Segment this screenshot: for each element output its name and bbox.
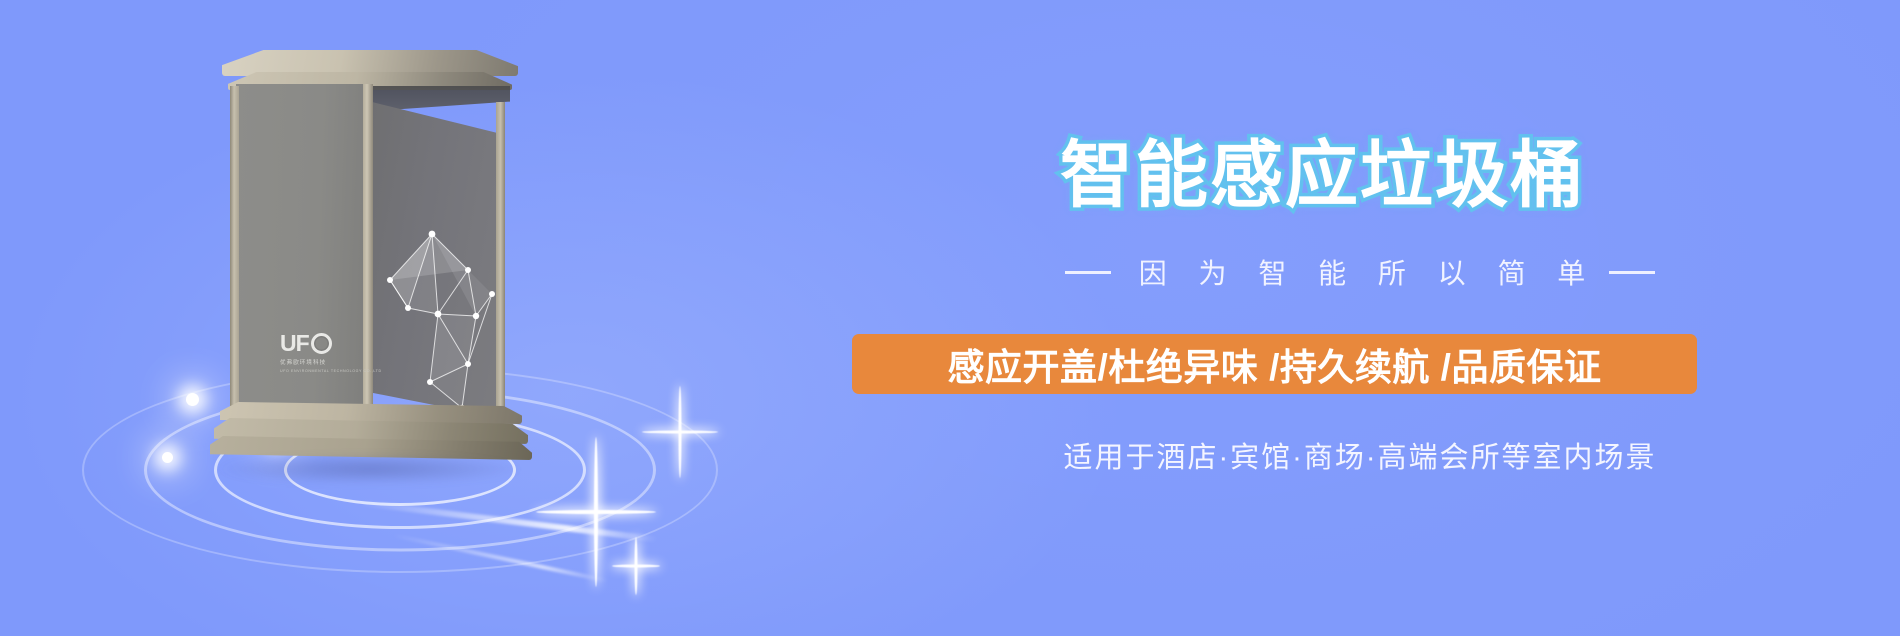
o-ring-icon (311, 333, 332, 354)
page-title: 智能感应垃圾桶 (1060, 116, 1585, 222)
bin-edge-left (230, 86, 239, 408)
use-case-text: 适用于酒店·宾馆·商场·高端会所等室内场景 (880, 434, 1840, 476)
marketing-copy: 智能感应垃圾桶 因 为 智 能 所 以 简 单 感应开盖/杜绝异味 /持久续航 … (880, 0, 1840, 636)
feature-highlight-text: 感应开盖/杜绝异味 /持久续航 /品质保证 (948, 337, 1602, 391)
polygon-network-graphic (372, 102, 500, 418)
slogan-line: 因 为 智 能 所 以 简 单 (880, 252, 1840, 292)
glow-dot-icon (162, 452, 173, 463)
ufo-brand-logo: UF 优弗欧环境科技 UFO ENVIRONMENTAL TECHNOLOGY … (280, 332, 358, 378)
slogan-text: 因 为 智 能 所 以 简 单 (1133, 252, 1597, 292)
logo-chinese-name: 优弗欧环境科技 (280, 358, 358, 366)
bin-edge-right (496, 102, 505, 414)
logo-mark: UF (280, 332, 358, 355)
trash-bin-product: UF 优弗欧环境科技 UFO ENVIRONMENTAL TECHNOLOGY … (210, 50, 530, 450)
bin-edge-center (363, 84, 373, 414)
product-illustration: UF 优弗欧环境科技 UFO ENVIRONMENTAL TECHNOLOGY … (60, 20, 760, 620)
bin-panel-right (372, 102, 500, 418)
bin-ground-shadow (220, 454, 520, 484)
logo-wordmark: UF (280, 332, 309, 355)
logo-tagline: UFO ENVIRONMENTAL TECHNOLOGY CO.,LTD (280, 369, 358, 374)
promo-banner: UF 优弗欧环境科技 UFO ENVIRONMENTAL TECHNOLOGY … (0, 0, 1900, 636)
rule-right (1609, 271, 1655, 274)
feature-highlight-banner: 感应开盖/杜绝异味 /持久续航 /品质保证 (852, 334, 1697, 394)
glow-dot-icon (186, 393, 199, 406)
rule-left (1065, 271, 1111, 274)
